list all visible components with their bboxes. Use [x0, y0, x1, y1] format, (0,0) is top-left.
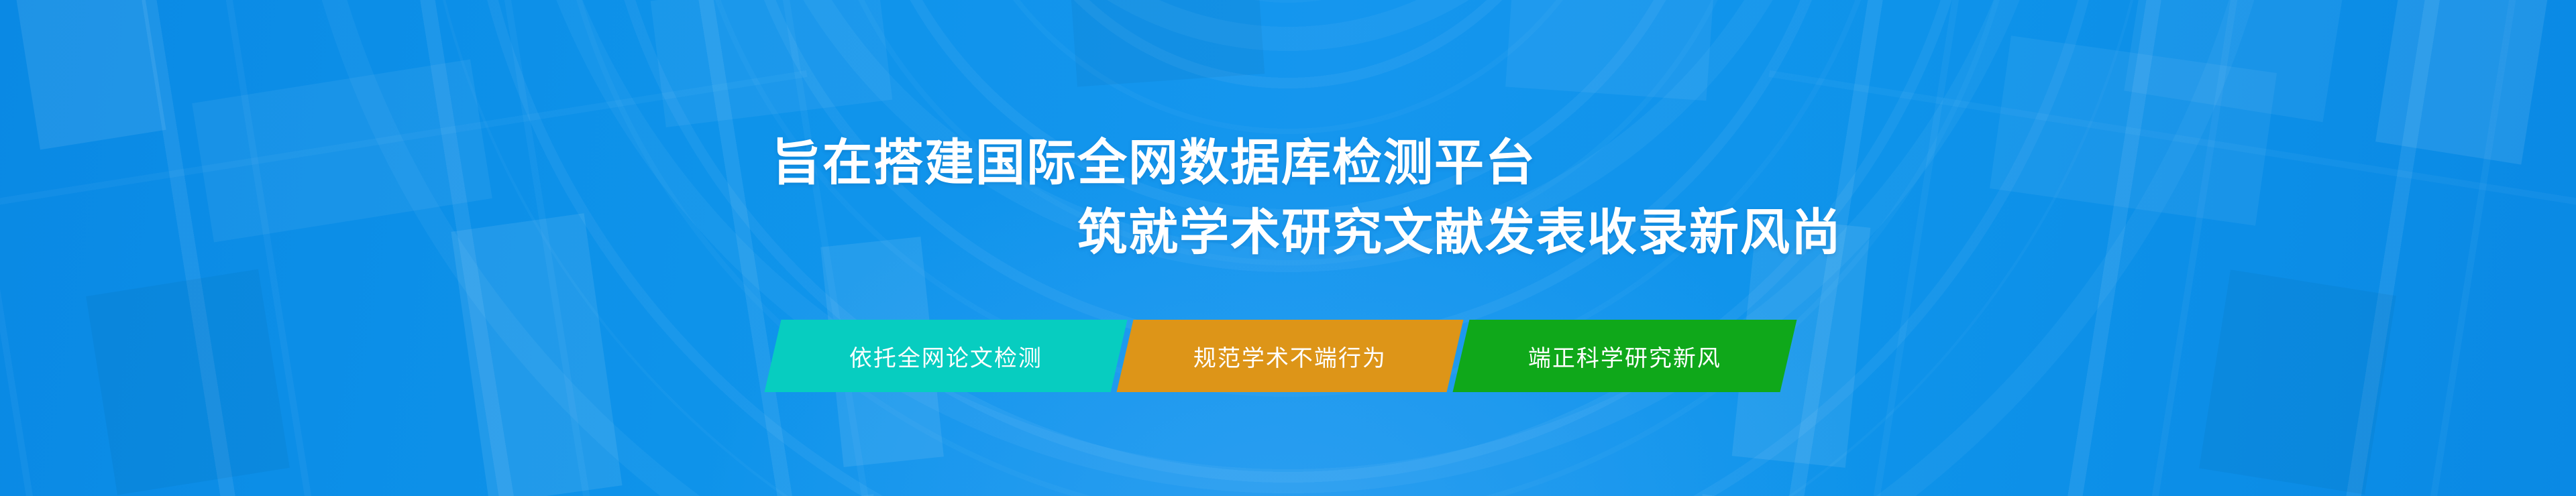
feature-tag-3-label: 端正科学研究新风 [1528, 340, 1721, 373]
feature-tag-1-label: 依托全网论文检测 [849, 340, 1042, 373]
feature-tag-3[interactable]: 端正科学研究新风 [1453, 320, 1797, 392]
feature-tag-1[interactable]: 依托全网论文检测 [765, 320, 1128, 392]
feature-tag-2[interactable]: 规范学术不端行为 [1117, 320, 1464, 392]
feature-tag-2-label: 规范学术不端行为 [1193, 340, 1387, 373]
feature-tag-strip: 依托全网论文检测 规范学术不端行为 端正科学研究新风 [773, 320, 1788, 392]
headline-line-2: 筑就学术研究文献发表收录新风尚 [1077, 208, 1842, 257]
headline-line-1: 旨在搭建国际全网数据库检测平台 [771, 138, 1536, 188]
promo-banner: 旨在搭建国际全网数据库检测平台 筑就学术研究文献发表收录新风尚 依托全网论文检测… [0, 0, 2576, 496]
